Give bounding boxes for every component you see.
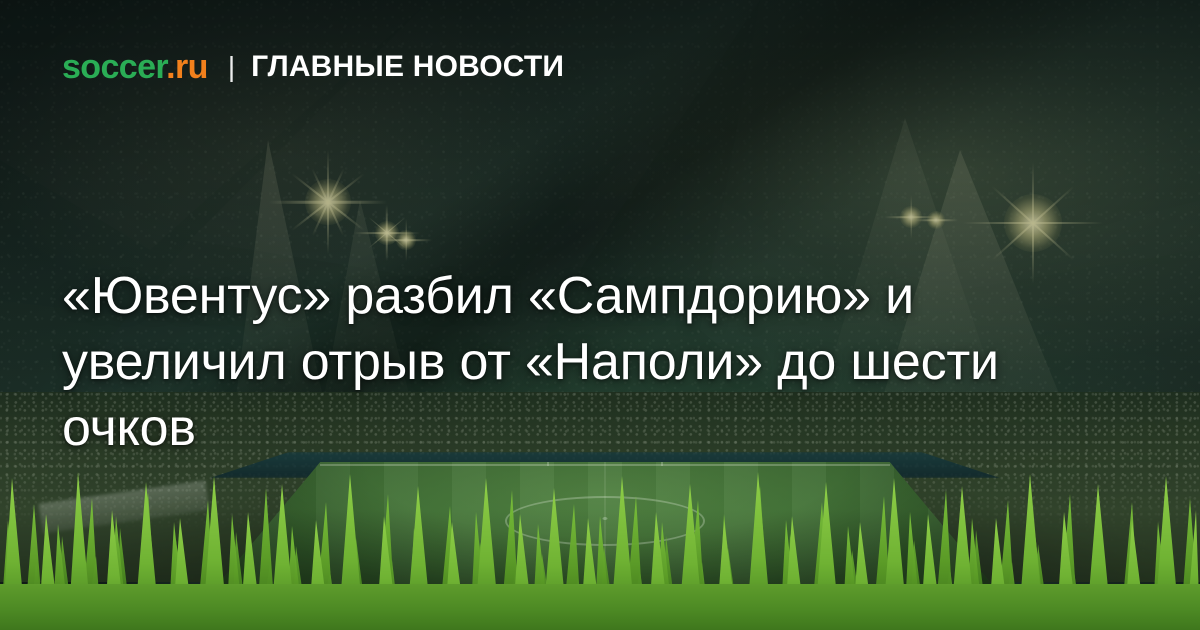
news-share-card: soccer.ru | ГЛАВНЫЕ НОВОСТИ «Ювентус» ра… [0,0,1200,630]
header-separator: | [228,53,235,81]
logo-name: soccer [62,48,166,86]
soccer-ru-logo[interactable]: soccer.ru [62,50,208,84]
article-headline: «Ювентус» разбил «Сампдорию» и увеличил … [62,263,1062,461]
header-kicker: ГЛАВНЫЕ НОВОСТИ [251,52,564,82]
site-header: soccer.ru | ГЛАВНЫЕ НОВОСТИ [62,50,564,84]
logo-tld: .ru [166,48,208,86]
card-content: soccer.ru | ГЛАВНЫЕ НОВОСТИ «Ювентус» ра… [0,0,1200,630]
